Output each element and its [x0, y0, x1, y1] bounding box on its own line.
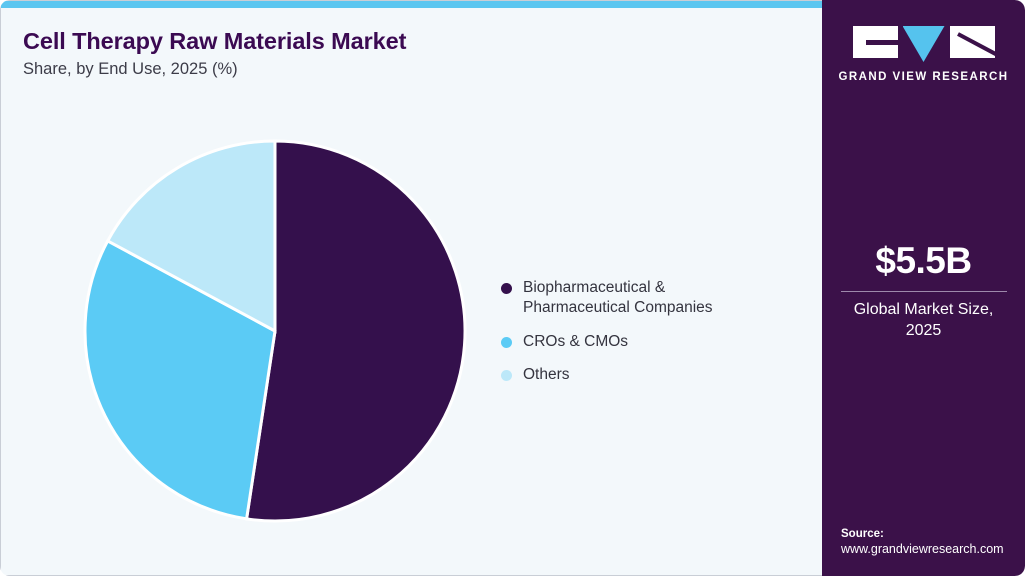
legend-item[interactable]: Biopharmaceutical & Pharmaceutical Compa…: [501, 278, 801, 318]
legend-item-label: CROs & CMOs: [523, 332, 628, 352]
divider: [841, 291, 1007, 292]
market-size-value: $5.5B: [822, 240, 1025, 282]
legend-swatch-icon: [501, 337, 512, 348]
brand-logo: GRAND VIEW RESEARCH: [822, 26, 1025, 83]
logo-letter-v-icon: [903, 26, 945, 62]
side-panel: GRAND VIEW RESEARCH $5.5B Global Market …: [822, 0, 1025, 576]
logo-letter-r-icon: [950, 26, 995, 58]
pie-slice: [247, 141, 465, 521]
logo-wordmark: GRAND VIEW RESEARCH: [822, 71, 1025, 83]
title-block: Cell Therapy Raw Materials Market Share,…: [23, 28, 406, 79]
source-block: Source: www.grandviewresearch.com: [841, 528, 1025, 556]
legend-item-label: Biopharmaceutical & Pharmaceutical Compa…: [523, 278, 753, 318]
pie-slice-group: [85, 141, 465, 521]
legend-swatch-icon: [501, 370, 512, 381]
pie-chart: [81, 137, 471, 527]
source-url: www.grandviewresearch.com: [841, 542, 1025, 556]
page-title: Cell Therapy Raw Materials Market: [23, 28, 406, 55]
legend-swatch-icon: [501, 283, 512, 294]
legend-item[interactable]: Others: [501, 365, 801, 385]
market-size-caption: Global Market Size, 2025: [822, 300, 1025, 342]
pie-chart-svg: [81, 137, 471, 527]
top-accent-bar: [1, 1, 823, 8]
legend-item[interactable]: CROs & CMOs: [501, 332, 801, 352]
chart-panel: Cell Therapy Raw Materials Market Share,…: [0, 0, 822, 576]
page-subtitle: Share, by End Use, 2025 (%): [23, 60, 406, 79]
chart-legend: Biopharmaceutical & Pharmaceutical Compa…: [501, 278, 801, 385]
logo-letter-g-icon: [853, 26, 898, 58]
infographic-card: Cell Therapy Raw Materials Market Share,…: [0, 0, 1025, 576]
source-label: Source:: [841, 528, 1025, 540]
stat-block: $5.5B Global Market Size, 2025: [822, 240, 1025, 342]
logo-marks: [822, 26, 1025, 62]
legend-item-label: Others: [523, 365, 570, 385]
